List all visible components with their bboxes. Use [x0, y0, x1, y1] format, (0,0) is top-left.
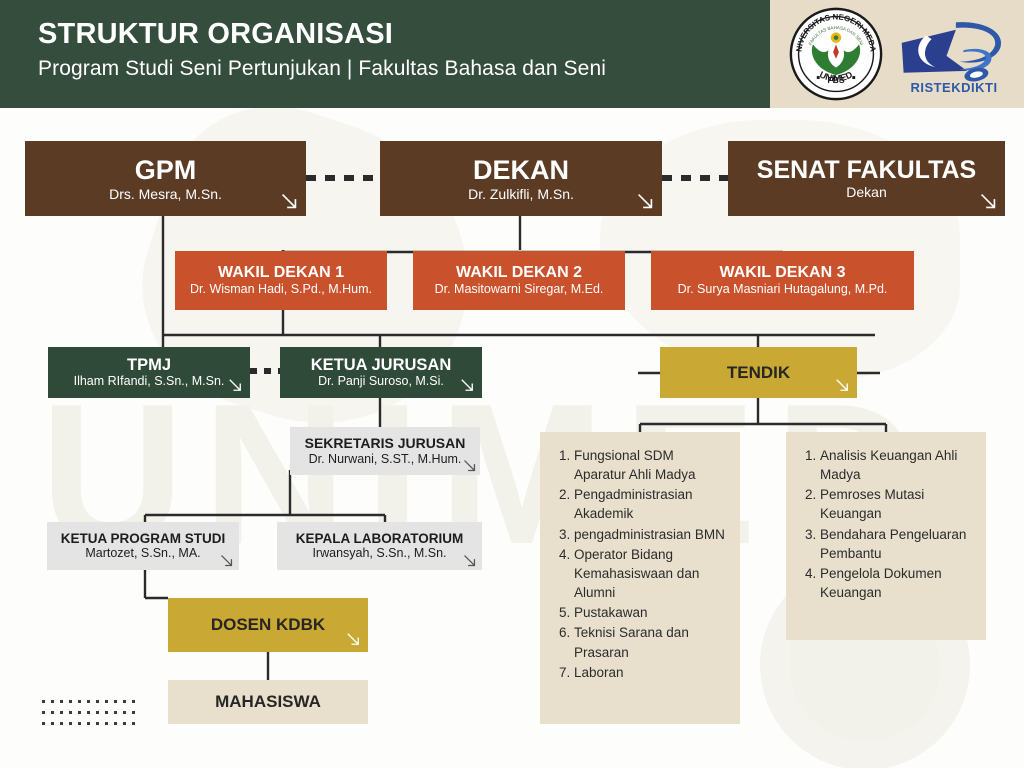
logo-strip: UNIVERSITAS NEGERI MEDAN FAKULTAS BAHASA…	[770, 0, 1024, 108]
node-tpmj-title: TPMJ	[127, 356, 171, 375]
dot	[60, 711, 63, 714]
dot	[51, 711, 54, 714]
dot	[114, 722, 117, 725]
node-ketua-jurusan-person: Dr. Panji Suroso, M.Si.	[318, 374, 444, 389]
node-wd1-title: WAKIL DEKAN 1	[218, 264, 344, 282]
dot	[132, 722, 135, 725]
dot	[78, 722, 81, 725]
list-item: Analisis Keuangan Ahli Madya	[820, 446, 974, 484]
expand-arrow-icon[interactable]	[461, 552, 478, 569]
expand-arrow-icon[interactable]	[226, 376, 244, 394]
org-chart-canvas: UNIMED STRUKTUR ORGANISASI Program Studi…	[0, 0, 1024, 768]
tendik-list-right: Analisis Keuangan Ahli MadyaPemroses Mut…	[786, 432, 986, 640]
node-wd2-person: Dr. Masitowarni Siregar, M.Ed.	[435, 282, 604, 297]
dot	[87, 722, 90, 725]
list-item: Pengelola Dokumen Keuangan	[820, 564, 974, 602]
node-dekan-person: Dr. Zulkifli, M.Sn.	[468, 186, 574, 203]
expand-arrow-icon[interactable]	[461, 457, 478, 474]
node-sekretaris-jurusan[interactable]: SEKRETARIS JURUSAN Dr. Nurwani, S.ST., M…	[290, 427, 480, 475]
expand-arrow-icon[interactable]	[833, 376, 851, 394]
node-kalab-person: Irwansyah, S.Sn., M.Sn.	[312, 546, 446, 561]
node-dosen-kdbk[interactable]: DOSEN KDBK	[168, 598, 368, 652]
node-wakil-dekan-2[interactable]: WAKIL DEKAN 2 Dr. Masitowarni Siregar, M…	[413, 251, 625, 310]
dot	[42, 700, 45, 703]
node-tpmj[interactable]: TPMJ Ilham RIfandi, S.Sn., M.Sn.	[48, 347, 250, 398]
node-ketua-jurusan[interactable]: KETUA JURUSAN Dr. Panji Suroso, M.Si.	[280, 347, 482, 398]
dot-grid-decoration	[42, 700, 138, 732]
node-dekan-title: DEKAN	[473, 155, 569, 186]
dot	[132, 700, 135, 703]
tendik-list-left: Fungsional SDM Aparatur Ahli MadyaPengad…	[540, 432, 740, 724]
dot	[42, 722, 45, 725]
dot	[96, 711, 99, 714]
page-header: STRUKTUR ORGANISASI Program Studi Seni P…	[0, 0, 770, 108]
node-ketua-program-studi[interactable]: KETUA PROGRAM STUDI Martozet, S.Sn., MA.	[47, 522, 239, 570]
dot	[105, 722, 108, 725]
expand-arrow-icon[interactable]	[977, 190, 999, 212]
list-item: Pengadministrasian Akademik	[574, 485, 728, 523]
node-mahasiswa-title: MAHASISWA	[215, 692, 321, 712]
node-gpm[interactable]: GPM Drs. Mesra, M.Sn.	[25, 141, 306, 216]
expand-arrow-icon[interactable]	[634, 190, 656, 212]
list-item: Bendahara Pengeluaran Pembantu	[820, 525, 974, 563]
node-sekretaris-title: SEKRETARIS JURUSAN	[305, 435, 466, 451]
tendik-left-items: Fungsional SDM Aparatur Ahli MadyaPengad…	[554, 446, 728, 682]
list-item: Laboran	[574, 663, 728, 682]
expand-arrow-icon[interactable]	[458, 376, 476, 394]
dot	[51, 700, 54, 703]
dot	[69, 700, 72, 703]
dot	[60, 722, 63, 725]
expand-arrow-icon[interactable]	[278, 190, 300, 212]
dot	[105, 711, 108, 714]
node-senat-title: SENAT FAKULTAS	[757, 156, 976, 185]
dot	[96, 700, 99, 703]
tendik-right-items: Analisis Keuangan Ahli MadyaPemroses Mut…	[800, 446, 974, 602]
dot	[123, 722, 126, 725]
node-kalab-title: KEPALA LABORATORIUM	[296, 531, 464, 547]
node-tendik[interactable]: TENDIK	[660, 347, 857, 398]
node-ketua-jurusan-title: KETUA JURUSAN	[311, 356, 452, 375]
list-item: Operator Bidang Kemahasiswaan dan Alumni	[574, 545, 728, 602]
node-tpmj-person: Ilham RIfandi, S.Sn., M.Sn.	[74, 374, 225, 389]
node-gpm-title: GPM	[135, 155, 197, 186]
node-wakil-dekan-1[interactable]: WAKIL DEKAN 1 Dr. Wisman Hadi, S.Pd., M.…	[175, 251, 387, 310]
list-item: Pemroses Mutasi Keuangan	[820, 485, 974, 523]
dot	[132, 711, 135, 714]
unimed-fbs-seal-icon: UNIVERSITAS NEGERI MEDAN FAKULTAS BAHASA…	[788, 6, 884, 102]
dot	[114, 700, 117, 703]
list-item: pengadministrasian BMN	[574, 525, 728, 544]
dot	[105, 700, 108, 703]
expand-arrow-icon[interactable]	[218, 552, 235, 569]
dot	[60, 700, 63, 703]
dot	[42, 711, 45, 714]
node-kaprodi-title: KETUA PROGRAM STUDI	[61, 531, 226, 547]
dot	[78, 711, 81, 714]
node-kaprodi-person: Martozet, S.Sn., MA.	[85, 546, 200, 561]
node-sekretaris-person: Dr. Nurwani, S.ST., M.Hum.	[309, 452, 462, 467]
node-wakil-dekan-3[interactable]: WAKIL DEKAN 3 Dr. Surya Masniari Hutagal…	[651, 251, 914, 310]
node-dosen-kdbk-title: DOSEN KDBK	[211, 615, 325, 635]
node-gpm-person: Drs. Mesra, M.Sn.	[109, 186, 222, 203]
list-item: Teknisi Sarana dan Prasaran	[574, 623, 728, 661]
page-title: STRUKTUR ORGANISASI	[38, 18, 393, 51]
node-wd1-person: Dr. Wisman Hadi, S.Pd., M.Hum.	[190, 282, 372, 297]
node-senat-fakultas[interactable]: SENAT FAKULTAS Dekan	[728, 141, 1005, 216]
node-dekan[interactable]: DEKAN Dr. Zulkifli, M.Sn.	[380, 141, 662, 216]
expand-arrow-icon[interactable]	[344, 630, 362, 648]
dot	[96, 722, 99, 725]
dot	[87, 700, 90, 703]
dot	[78, 700, 81, 703]
node-tendik-title: TENDIK	[727, 363, 790, 383]
dot	[51, 722, 54, 725]
dot	[69, 711, 72, 714]
list-item: Fungsional SDM Aparatur Ahli Madya	[574, 446, 728, 484]
dot	[123, 711, 126, 714]
list-item: Pustakawan	[574, 603, 728, 622]
dot	[87, 711, 90, 714]
node-wd3-title: WAKIL DEKAN 3	[720, 264, 846, 282]
dot	[123, 700, 126, 703]
node-wd3-person: Dr. Surya Masniari Hutagalung, M.Pd.	[678, 282, 888, 297]
dot	[69, 722, 72, 725]
node-wd2-title: WAKIL DEKAN 2	[456, 264, 582, 282]
dot	[114, 711, 117, 714]
node-kepala-laboratorium[interactable]: KEPALA LABORATORIUM Irwansyah, S.Sn., M.…	[277, 522, 482, 570]
node-senat-person: Dekan	[846, 184, 886, 201]
ristekdikti-label: RISTEKDIKTI	[898, 80, 1010, 95]
page-subtitle: Program Studi Seni Pertunjukan | Fakulta…	[38, 57, 606, 81]
node-mahasiswa[interactable]: MAHASISWA	[168, 680, 368, 724]
